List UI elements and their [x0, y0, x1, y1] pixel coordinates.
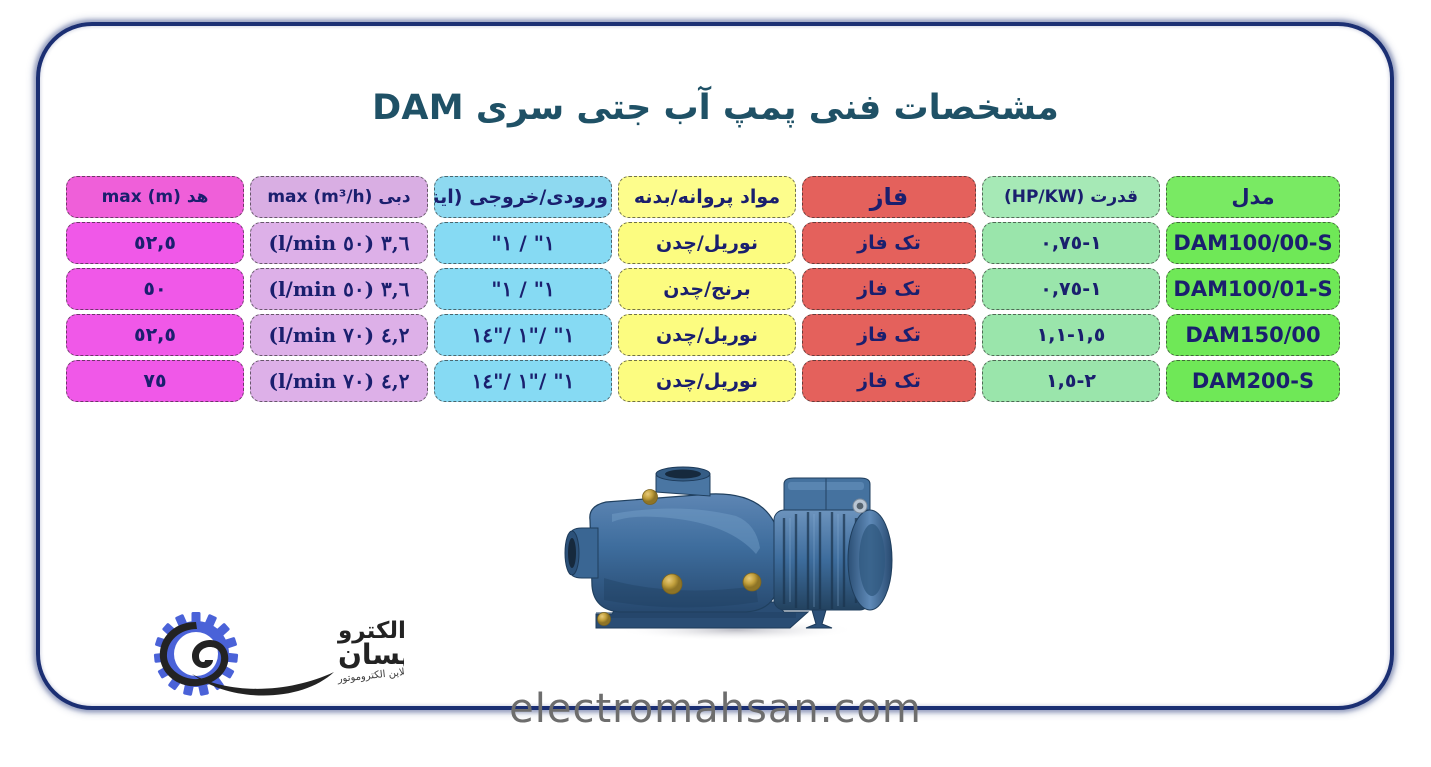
cell-material: نوریل/چدن [618, 222, 796, 264]
table-row: DAM150/00 ١,٥-١,١ تک فاز نوریل/چدن ١" /"… [66, 314, 1340, 356]
header-cell-inlet-outlet: ورودی/خروجی (اینچ) [434, 176, 612, 218]
cell-head: ٧٥ [66, 360, 244, 402]
cell-model: DAM100/01-S [1166, 268, 1340, 310]
cell-power: ١,٥-١,١ [982, 314, 1160, 356]
cell-power: ١-٠,٧٥ [982, 222, 1160, 264]
poster-canvas: مشخصات فنی پمپ آب جتی سری DAM مدل قدرت (… [0, 0, 1431, 767]
cell-phase: تک فاز [802, 360, 976, 402]
cell-flow: ٤,٢ (٧٠ l/min) [250, 314, 428, 356]
header-cell-phase: فاز [802, 176, 976, 218]
cell-phase: تک فاز [802, 268, 976, 310]
table-row: DAM100/01-S ١-٠,٧٥ تک فاز برنج/چدن ١" / … [66, 268, 1340, 310]
cell-flow: ٣,٦ (٥٠ l/min) [250, 268, 428, 310]
cell-model: DAM100/00-S [1166, 222, 1340, 264]
table-row: DAM100/00-S ١-٠,٧٥ تک فاز نوریل/چدن ١" /… [66, 222, 1340, 264]
cell-inlet-outlet: ١" / ١" [434, 222, 612, 264]
cell-inlet-outlet: ١" / ١" [434, 268, 612, 310]
cell-model: DAM150/00 [1166, 314, 1340, 356]
pump-product-image [560, 462, 896, 642]
header-cell-power: قدرت (HP/KW) [982, 176, 1160, 218]
cell-flow: ٤,٢ (٧٠ l/min) [250, 360, 428, 402]
cell-material: نوریل/چدن [618, 360, 796, 402]
logo-brand-line2: مهسان [338, 638, 404, 671]
cell-inlet-outlet: ١" /"١ /"١٤ [434, 314, 612, 356]
table-row: DAM200-S ٢-١,٥ تک فاز نوریل/چدن ١" /"١ /… [66, 360, 1340, 402]
cell-power: ١-٠,٧٥ [982, 268, 1160, 310]
cell-inlet-outlet: ١" /"١ /"١٤ [434, 360, 612, 402]
page-title: مشخصات فنی پمپ آب جتی سری DAM [0, 88, 1431, 128]
header-cell-material: مواد پروانه/بدنه [618, 176, 796, 218]
cell-head: ٥٢,٥ [66, 314, 244, 356]
cell-power: ٢-١,٥ [982, 360, 1160, 402]
cell-model: DAM200-S [1166, 360, 1340, 402]
cell-flow: ٣,٦ (٥٠ l/min) [250, 222, 428, 264]
header-cell-head: هد (m) max [66, 176, 244, 218]
cell-head: ٥٢,٥ [66, 222, 244, 264]
specifications-table-container: مدل قدرت (HP/KW) فاز مواد پروانه/بدنه ور… [104, 172, 1346, 406]
table-header-row: مدل قدرت (HP/KW) فاز مواد پروانه/بدنه ور… [66, 176, 1340, 218]
header-cell-model: مدل [1166, 176, 1340, 218]
cell-material: نوریل/چدن [618, 314, 796, 356]
header-cell-flow: دبی max (m³/h) [250, 176, 428, 218]
cell-phase: تک فاز [802, 222, 976, 264]
cell-material: برنج/چدن [618, 268, 796, 310]
cell-head: ٥٠ [66, 268, 244, 310]
website-url: electromahsan.com [0, 686, 1431, 732]
cell-phase: تک فاز [802, 314, 976, 356]
specifications-table: مدل قدرت (HP/KW) فاز مواد پروانه/بدنه ور… [60, 172, 1346, 406]
